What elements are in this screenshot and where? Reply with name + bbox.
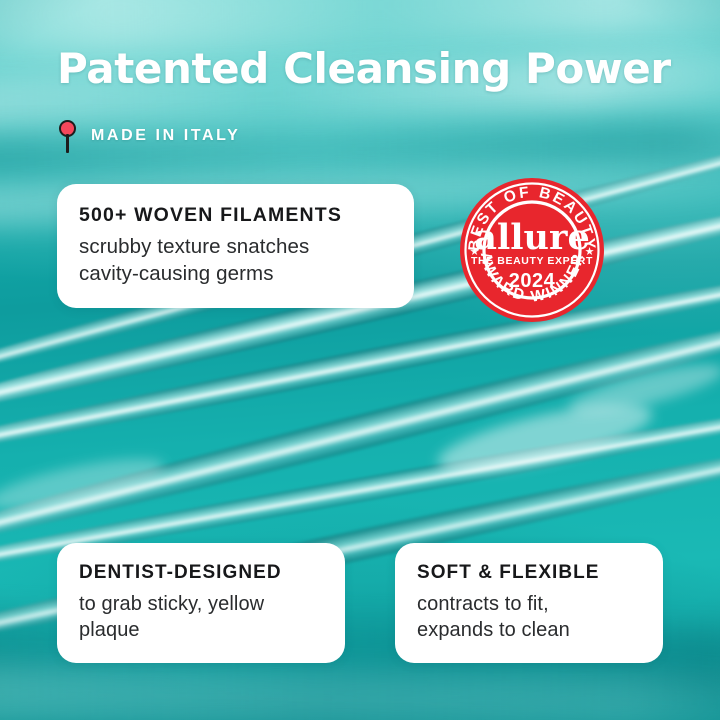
map-pin-icon bbox=[57, 119, 79, 153]
origin-label: MADE IN ITALY bbox=[91, 127, 240, 145]
allure-award-seal-icon: BEST OF BEAUTY AWARD WINNER ★ ★ allure T… bbox=[459, 177, 605, 323]
map-pin-stem bbox=[66, 134, 68, 153]
feature-card-body-line: cavity-causing germs bbox=[79, 260, 392, 287]
feature-card-body: contracts to fit, expands to clean bbox=[417, 591, 641, 643]
feature-card-body-line: contracts to fit, bbox=[417, 591, 641, 617]
feature-card-body-line: to grab sticky, yellow bbox=[79, 591, 323, 617]
feature-card-woven-filaments: 500+ WOVEN FILAMENTS scrubby texture sna… bbox=[57, 184, 414, 308]
feature-card-headline: DENTIST-DESIGNED bbox=[79, 562, 323, 584]
feature-card-body-line: plaque bbox=[79, 617, 323, 643]
feature-card-body: to grab sticky, yellow plaque bbox=[79, 591, 323, 643]
feature-card-headline: 500+ WOVEN FILAMENTS bbox=[79, 204, 392, 226]
feature-card-soft-flexible: SOFT & FLEXIBLE contracts to fit, expand… bbox=[395, 543, 663, 663]
feature-card-body-line: expands to clean bbox=[417, 617, 641, 643]
feature-card-body-line: scrubby texture snatches bbox=[79, 233, 392, 260]
seal-year-text: 2024 bbox=[509, 270, 556, 292]
origin-badge: MADE IN ITALY bbox=[57, 119, 240, 153]
page-title: Patented Cleansing Power bbox=[57, 45, 671, 93]
seal-tagline-text: THE BEAUTY EXPERT bbox=[471, 255, 593, 267]
feature-card-body: scrubby texture snatches cavity-causing … bbox=[79, 233, 392, 287]
seal-brand-text: allure bbox=[474, 217, 589, 258]
product-feature-graphic: Patented Cleansing Power MADE IN ITALY 5… bbox=[0, 0, 720, 720]
feature-card-dentist-designed: DENTIST-DESIGNED to grab sticky, yellow … bbox=[57, 543, 345, 663]
feature-card-headline: SOFT & FLEXIBLE bbox=[417, 562, 641, 584]
